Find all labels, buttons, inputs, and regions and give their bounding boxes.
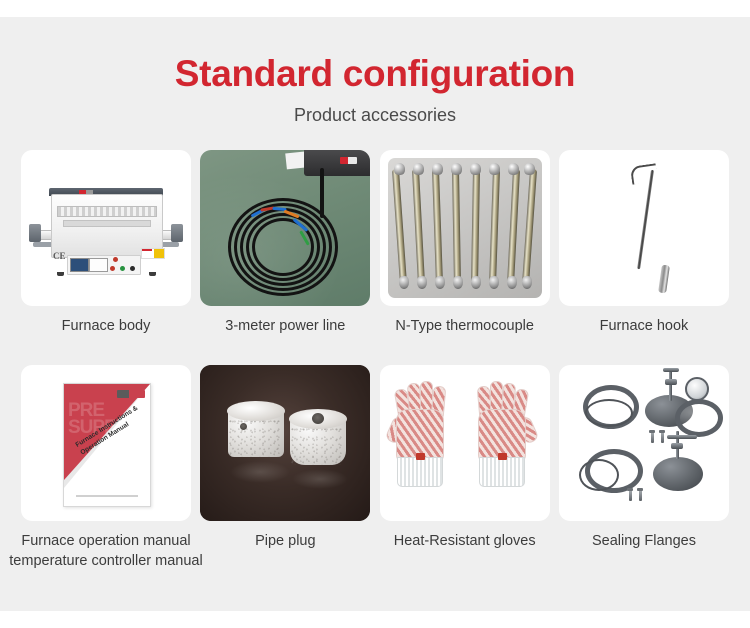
accessory-label: Sealing Flanges <box>559 531 729 551</box>
sealing-flange-set-illustration <box>559 365 729 521</box>
accessory-card-sealing-flanges[interactable] <box>559 365 729 521</box>
accessory-cell-power-line[interactable]: 3-meter power line <box>200 150 370 336</box>
accessory-label: 3-meter power line <box>200 316 370 336</box>
accessory-row-2: PRE SUPER Furnace Instructions & Operati… <box>21 365 729 551</box>
accessory-card-gloves[interactable] <box>380 365 550 521</box>
tube-furnace-illustration: CE <box>21 150 191 306</box>
accessory-cell-gloves[interactable]: Heat-Resistant gloves <box>380 365 550 551</box>
thermocouple-bundle-illustration <box>380 150 550 306</box>
accessory-cell-manual[interactable]: PRE SUPER Furnace Instructions & Operati… <box>21 365 191 551</box>
accessory-cell-furnace-hook[interactable]: Furnace hook <box>559 150 729 336</box>
accessory-label: Furnace hook <box>559 316 729 336</box>
accessory-card-power-line[interactable] <box>200 150 370 306</box>
accessory-label-line-2: temperature controller manual <box>5 551 207 571</box>
accessory-row-1: CE Furnace body <box>21 150 729 336</box>
manual-booklet-illustration: PRE SUPER Furnace Instructions & Operati… <box>21 365 191 521</box>
accessory-cell-furnace-body[interactable]: CE Furnace body <box>21 150 191 336</box>
page-title: Standard configuration <box>0 52 750 96</box>
accessory-cell-sealing-flanges[interactable]: Sealing Flanges <box>559 365 729 551</box>
accessory-label: N-Type thermocouple <box>380 316 550 336</box>
accessory-card-furnace-body[interactable]: CE <box>21 150 191 306</box>
accessory-card-thermocouple[interactable] <box>380 150 550 306</box>
accessory-label: Heat-Resistant gloves <box>380 531 550 551</box>
accessory-card-furnace-hook[interactable] <box>559 150 729 306</box>
page-header: Standard configuration Product accessori… <box>0 52 750 128</box>
coiled-power-cable-illustration <box>200 150 370 306</box>
ceramic-pipe-plugs-illustration <box>200 365 370 521</box>
accessory-label-line-1: Furnace operation manual <box>21 533 190 549</box>
page-root: Standard configuration Product accessori… <box>0 0 750 628</box>
ce-mark-label: CE <box>53 251 66 261</box>
accessory-cell-pipe-plug[interactable]: Pipe plug <box>200 365 370 551</box>
accessory-label: Pipe plug <box>200 531 370 551</box>
furnace-hook-illustration <box>559 150 729 306</box>
page-subtitle: Product accessories <box>0 102 750 128</box>
accessory-label: Furnace body <box>21 316 191 336</box>
accessory-card-pipe-plug[interactable] <box>200 365 370 521</box>
accessory-cell-thermocouple[interactable]: N-Type thermocouple <box>380 150 550 336</box>
accessory-label: Furnace operation manual temperature con… <box>5 531 207 571</box>
accessory-card-manual[interactable]: PRE SUPER Furnace Instructions & Operati… <box>21 365 191 521</box>
heat-resistant-gloves-illustration <box>380 365 550 521</box>
